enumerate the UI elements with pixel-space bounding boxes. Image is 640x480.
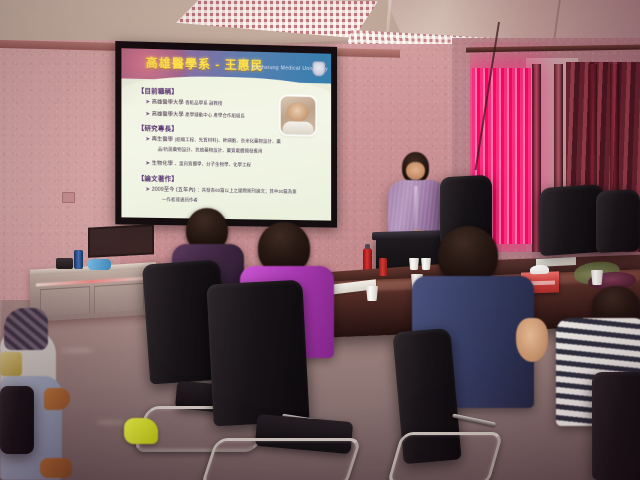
- bullet-detail: 品/抗菌藥物設計、抗癌藥物設計、藥質載體開發應用: [158, 147, 263, 154]
- chair-far-right[interactable]: [592, 372, 640, 480]
- slide-heading: 【論文著作】: [138, 172, 179, 183]
- presenter-face: [406, 162, 425, 180]
- bullet-text: 高雄醫學大學: [152, 111, 184, 118]
- paper-cup: [409, 258, 419, 270]
- university-crest-icon: [312, 61, 325, 76]
- wall-outlet-plate: [62, 192, 75, 203]
- attendee-shoe: [40, 458, 72, 478]
- paper-cup: [366, 286, 378, 301]
- paper-cup: [591, 270, 603, 285]
- cabinet-door[interactable]: [40, 286, 90, 317]
- slide-heading: 【研究專長】: [138, 122, 179, 133]
- photo-scene: 高雄醫學系 - 王惠民 Kaohsiung Medical University…: [0, 0, 640, 480]
- attendee-shoe: [44, 388, 70, 410]
- slide-bullet: ➤ 再生醫學 (組織工程、先質材料)、幹細胞、奈米化藥物設計、藥: [146, 135, 281, 145]
- slide-title: 高雄醫學系 - 王惠民: [146, 54, 264, 74]
- slide-bullet-cont: 一作者或通訊作者: [162, 197, 198, 204]
- bullet-detail: ：共發表60篇以上之國際期刊論文；其中30篇為第: [197, 187, 297, 194]
- speaker-photo: [281, 96, 316, 135]
- red-bottle: [379, 258, 387, 276]
- paper-cup: [421, 258, 431, 270]
- slide-surface: 高雄醫學系 - 王惠民 Kaohsiung Medical University…: [121, 48, 331, 220]
- projection-screen: 高雄醫學系 - 王惠民 Kaohsiung Medical University…: [115, 41, 337, 228]
- bullet-detail: 、蛋白質體學、分子生物學、化學工程: [175, 161, 251, 167]
- floor-reflection: [60, 348, 94, 353]
- chair-background[interactable]: [540, 184, 604, 256]
- chair-frame[interactable]: [386, 432, 503, 480]
- bullet-text: 再生醫學: [152, 136, 173, 142]
- bullet-detail: 產學鏈動中心 產學合作組組長: [185, 112, 245, 118]
- chair-background[interactable]: [596, 189, 640, 253]
- slide-bullet-cont: 品/抗菌藥物設計、抗癌藥物設計、藥質載體開發應用: [158, 147, 263, 155]
- chair-backrest[interactable]: [206, 280, 309, 427]
- bullet-text: 高雄醫學大學: [152, 99, 184, 106]
- slide-bullet: ➤ 2009至今 (五年內) ：共發表60篇以上之國際期刊論文；其中30篇為第: [146, 186, 297, 196]
- side-cabinet: [30, 262, 156, 322]
- chair-far-left[interactable]: [0, 386, 34, 454]
- attendee-arm: [516, 318, 548, 362]
- cabinet-blue-bag: [88, 259, 111, 270]
- slide-heading: 【目前職稱】: [138, 85, 179, 96]
- slide-bullet: ➤ 高雄醫學大學 香粧品學系 副教授: [146, 98, 223, 107]
- wall-picture: [88, 224, 154, 257]
- attendee-sleeve: [4, 308, 48, 350]
- slide-bullet: ➤ 生物化學 、蛋白質體學、分子生物學、化學工程: [146, 159, 251, 168]
- bullet-text: 生物化學: [152, 161, 173, 167]
- yellow-object-on-floor: [124, 418, 158, 444]
- floor-reflection: [96, 420, 126, 425]
- cabinet-door[interactable]: [94, 283, 144, 314]
- cabinet-bottle: [74, 250, 83, 269]
- bullet-detail: 一作者或通訊作者: [162, 197, 198, 203]
- bullet-detail: 香粧品學系 副教授: [185, 100, 222, 106]
- cabinet-box: [56, 258, 73, 269]
- slide-body: 【目前職稱】 ➤ 高雄醫學大學 香粧品學系 副教授 ➤ 高雄醫學大學 產學鏈動中…: [121, 74, 331, 220]
- attendee-bag: [0, 352, 22, 376]
- chair-frame[interactable]: [200, 438, 362, 480]
- slide-bullet: ➤ 高雄醫學大學 產學鏈動中心 產學合作組組長: [146, 110, 245, 119]
- bullet-text: 2009至今 (五年內): [152, 187, 196, 194]
- bullet-detail: (組織工程、先質材料)、幹細胞、奈米化藥物設計、藥: [175, 137, 281, 144]
